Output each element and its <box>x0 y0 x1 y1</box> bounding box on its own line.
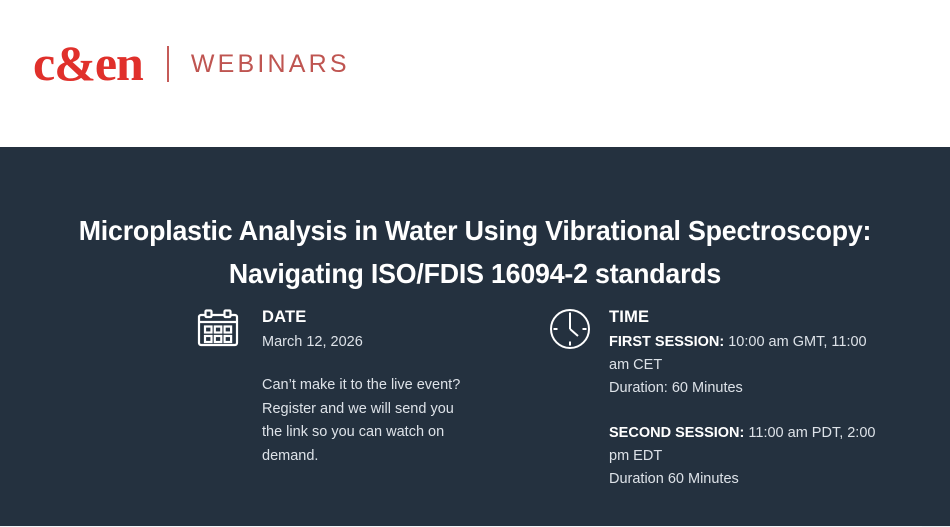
event-date-block: DATE March 12, 2026 Can’t make it to the… <box>196 307 496 468</box>
time-heading: TIME <box>609 307 888 327</box>
brand-logo-link[interactable]: c&en WEBINARS <box>33 38 350 90</box>
section-bottom-edge <box>0 522 950 527</box>
cen-wordmark: c&en <box>33 38 143 90</box>
session-second-label: SECOND SESSION: <box>609 425 744 441</box>
session-second-time: SECOND SESSION: 11:00 am PDT, 2:00 pm ED… <box>609 422 877 468</box>
brand-divider <box>167 46 169 82</box>
event-time-body: TIME FIRST SESSION: 10:00 am GMT, 11:00 … <box>609 307 888 491</box>
session-second-duration: Duration 60 Minutes <box>609 468 877 491</box>
session-first-duration: Duration: 60 Minutes <box>609 377 877 400</box>
session-first-time: FIRST SESSION: 10:00 am GMT, 11:00 am CE… <box>609 331 877 377</box>
event-date-body: DATE March 12, 2026 Can’t make it to the… <box>262 307 496 468</box>
date-heading: DATE <box>262 307 496 327</box>
clock-icon <box>548 307 592 351</box>
event-time-block: TIME FIRST SESSION: 10:00 am GMT, 11:00 … <box>548 307 888 491</box>
page-title-line-2: Navigating ISO/FDIS 16094-2 standards <box>21 252 928 295</box>
session-first-label: FIRST SESSION: <box>609 334 724 350</box>
page-title-line-1: Microplastic Analysis in Water Using Vib… <box>21 209 928 252</box>
site-header: c&en WEBINARS <box>0 0 950 147</box>
event-details-row: DATE March 12, 2026 Can’t make it to the… <box>0 307 950 517</box>
webinars-label: WEBINARS <box>191 52 350 77</box>
page-title: Microplastic Analysis in Water Using Vib… <box>0 209 950 295</box>
hero-section: Microplastic Analysis in Water Using Vib… <box>0 147 950 522</box>
webinar-landing-page: c&en WEBINARS Microplastic Analysis in W… <box>0 0 950 527</box>
date-value: March 12, 2026 <box>262 331 496 354</box>
session-first: FIRST SESSION: 10:00 am GMT, 11:00 am CE… <box>609 331 888 400</box>
session-second: SECOND SESSION: 11:00 am PDT, 2:00 pm ED… <box>609 422 888 491</box>
calendar-icon <box>196 307 240 351</box>
on-demand-note: Can’t make it to the live event? Registe… <box>262 374 474 468</box>
